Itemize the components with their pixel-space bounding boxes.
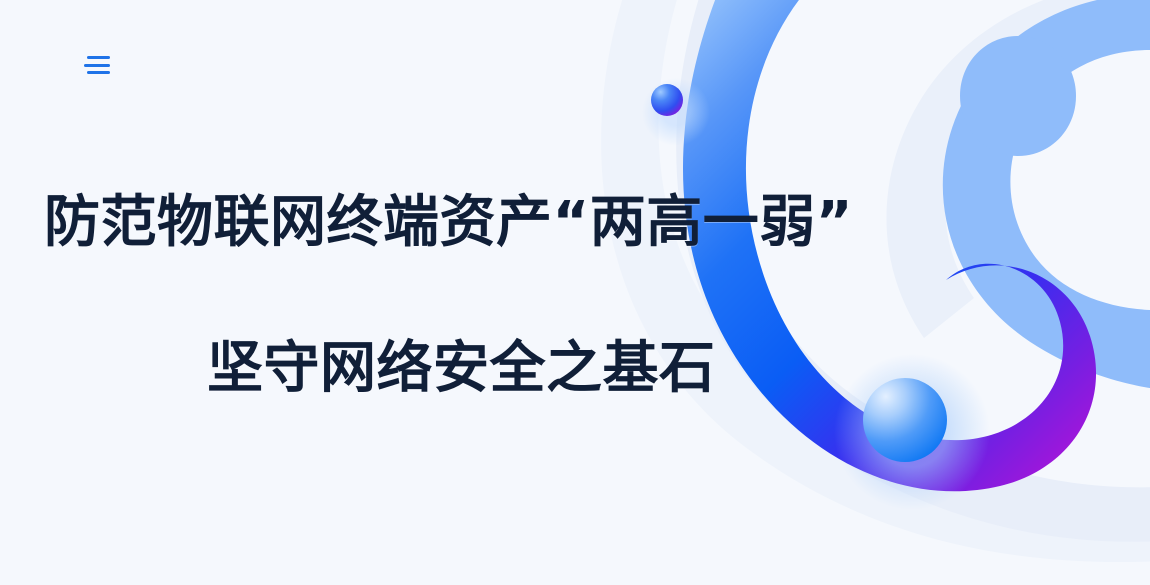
hamburger-menu-icon[interactable] bbox=[84, 52, 114, 78]
title-line-primary: 防范物联网终端资产“两高一弱” bbox=[44, 186, 880, 260]
menu-bar-bottom bbox=[87, 71, 110, 74]
title-line-secondary: 坚守网络安全之基石 bbox=[207, 332, 880, 406]
menu-bar-top bbox=[87, 56, 110, 59]
light-blue-horseshoe-arc bbox=[943, 0, 1150, 388]
menu-bar-middle bbox=[84, 64, 110, 67]
pale-ring-arc-topright bbox=[886, 0, 1150, 338]
page-title: 防范物联网终端资产“两高一弱” 坚守网络安全之基石 bbox=[0, 186, 880, 406]
small-gradient-sphere bbox=[642, 78, 710, 146]
slide-canvas: 防范物联网终端资产“两高一弱” 坚守网络安全之基石 bbox=[0, 0, 1150, 585]
